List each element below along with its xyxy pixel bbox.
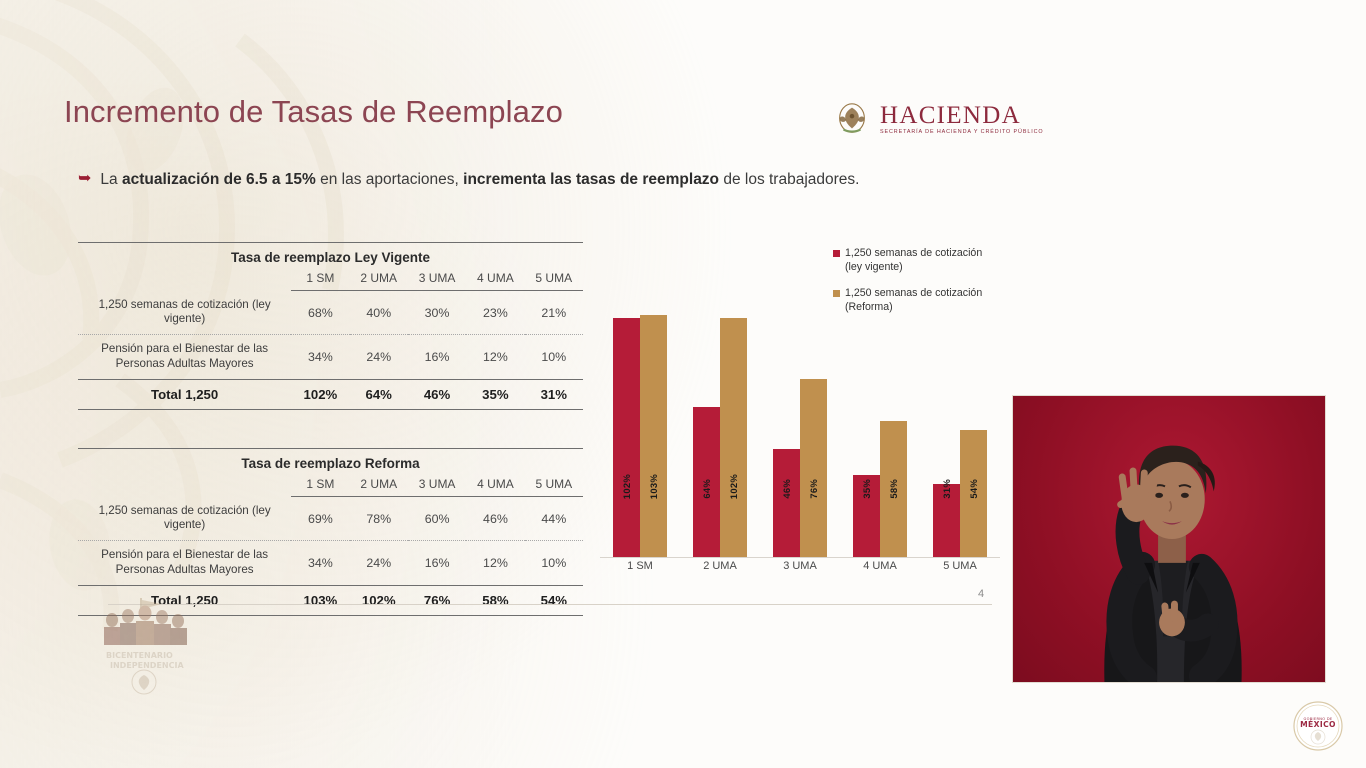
bullet-text-plain: en las aportaciones, xyxy=(316,171,463,188)
x-axis-tick-label: 3 UMA xyxy=(773,560,827,572)
bar-group: 102%103% xyxy=(613,300,667,557)
row-value: 24% xyxy=(350,335,408,380)
hacienda-name: HACIENDA xyxy=(880,103,1044,128)
x-axis-tick-label: 2 UMA xyxy=(693,560,747,572)
row-value: 34% xyxy=(291,541,349,586)
gobierno-de-mexico-badge: GOBIERNO DE MÉXICO xyxy=(1292,700,1344,752)
bar[interactable]: 64% xyxy=(693,407,720,557)
historical-figures-vignette: BICENTENARIO INDEPENDENCIA xyxy=(96,596,192,696)
row-value: 60% xyxy=(408,497,466,541)
column-header: 5 UMA xyxy=(525,477,583,497)
bar[interactable]: 103% xyxy=(640,315,667,557)
row-label: Pensión para el Bienestar de las Persona… xyxy=(78,541,291,586)
bar-value-label: 102% xyxy=(728,474,739,499)
table-corner-cell xyxy=(78,477,291,497)
total-label: Total 1,250 xyxy=(78,379,291,409)
bar-group: 46%76% xyxy=(773,300,827,557)
row-value: 34% xyxy=(291,335,349,380)
mexican-eagle-seal-icon xyxy=(833,100,871,138)
bar[interactable]: 35% xyxy=(853,475,880,557)
row-value: 46% xyxy=(466,497,524,541)
row-value: 69% xyxy=(291,497,349,541)
row-value: 10% xyxy=(525,335,583,380)
row-value: 78% xyxy=(350,497,408,541)
x-axis-tick-label: 1 SM xyxy=(613,560,667,572)
legend-swatch-icon xyxy=(833,290,840,297)
hacienda-logo: HACIENDA SECRETARÍA DE HACIENDA Y CRÉDIT… xyxy=(833,100,1044,138)
total-value: 46% xyxy=(408,379,466,409)
row-value: 30% xyxy=(408,291,466,335)
total-value: 31% xyxy=(525,379,583,409)
row-value: 40% xyxy=(350,291,408,335)
total-value: 64% xyxy=(350,379,408,409)
bar[interactable]: 54% xyxy=(960,430,987,557)
column-header: 1 SM xyxy=(291,477,349,497)
chart-plot-area: 102%103%64%102%46%76%35%58%31%54% xyxy=(600,300,1000,558)
bar[interactable]: 102% xyxy=(720,318,747,557)
table-row: 1,250 semanas de cotización (ley vigente… xyxy=(78,291,583,335)
bar[interactable]: 102% xyxy=(613,318,640,557)
bar-chart: 102%103%64%102%46%76%35%58%31%54% 1 SM2 … xyxy=(600,300,1000,590)
total-value: 76% xyxy=(408,585,466,615)
svg-text:MÉXICO: MÉXICO xyxy=(1300,720,1336,729)
legend-swatch-icon xyxy=(833,250,840,257)
table-title: Tasa de reemplazo Ley Vigente xyxy=(78,243,583,272)
bar-value-label: 58% xyxy=(888,479,899,499)
page-title: Incremento de Tasas de Reemplazo xyxy=(64,94,563,130)
row-value: 16% xyxy=(408,335,466,380)
bullet-text: La actualización de 6.5 a 15% en las apo… xyxy=(100,170,859,190)
hacienda-subtitle: SECRETARÍA DE HACIENDA Y CRÉDITO PÚBLICO xyxy=(880,129,1044,135)
column-header: 4 UMA xyxy=(466,477,524,497)
row-label: 1,250 semanas de cotización (ley vigente… xyxy=(78,497,291,541)
table-total-row: Total 1,250 102% 64% 46% 35% 31% xyxy=(78,379,583,409)
bar-group: 31%54% xyxy=(933,300,987,557)
interpreter-figure xyxy=(1013,396,1325,682)
row-value: 21% xyxy=(525,291,583,335)
svg-text:INDEPENDENCIA: INDEPENDENCIA xyxy=(110,661,184,670)
total-value: 54% xyxy=(525,585,583,615)
legend-label: 1,250 semanas de cotización (ley vigente… xyxy=(845,247,982,274)
presentation-slide: Incremento de Tasas de Reemplazo HACIEND… xyxy=(0,0,1366,768)
column-header: 1 SM xyxy=(291,271,349,291)
total-value: 103% xyxy=(291,585,349,615)
column-header: 4 UMA xyxy=(466,271,524,291)
table-tasa-reemplazo-reforma: Tasa de reemplazo Reforma 1 SM 2 UMA 3 U… xyxy=(78,448,583,616)
column-header: 3 UMA xyxy=(408,271,466,291)
row-value: 10% xyxy=(525,541,583,586)
bar[interactable]: 46% xyxy=(773,449,800,557)
table-row: Pensión para el Bienestar de las Persona… xyxy=(78,335,583,380)
bar-group: 35%58% xyxy=(853,300,907,557)
table-corner-cell xyxy=(78,271,291,291)
page-number: 4 xyxy=(978,588,984,600)
bar-value-label: 46% xyxy=(781,479,792,499)
bar-value-label: 76% xyxy=(808,479,819,499)
bar-value-label: 102% xyxy=(621,474,632,499)
bullet-text-strong: incrementa las tasas de reemplazo xyxy=(463,171,719,188)
table-row: Pensión para el Bienestar de las Persona… xyxy=(78,541,583,586)
row-value: 12% xyxy=(466,335,524,380)
total-value: 102% xyxy=(291,379,349,409)
bar-value-label: 35% xyxy=(861,479,872,499)
table-title: Tasa de reemplazo Reforma xyxy=(78,449,583,478)
bar-value-label: 31% xyxy=(941,479,952,499)
bullet-row: ➥ La actualización de 6.5 a 15% en las a… xyxy=(78,170,1038,190)
bar-value-label: 103% xyxy=(648,474,659,499)
column-header: 2 UMA xyxy=(350,271,408,291)
column-header: 5 UMA xyxy=(525,271,583,291)
footer-divider xyxy=(108,604,992,605)
x-axis-tick-label: 5 UMA xyxy=(933,560,987,572)
row-value: 16% xyxy=(408,541,466,586)
bullet-text-plain: de los trabajadores. xyxy=(719,171,859,188)
bar[interactable]: 31% xyxy=(933,484,960,557)
bar-value-label: 54% xyxy=(968,479,979,499)
row-value: 12% xyxy=(466,541,524,586)
bullet-text-plain: La xyxy=(100,171,122,188)
row-label: 1,250 semanas de cotización (ley vigente… xyxy=(78,291,291,335)
column-header: 3 UMA xyxy=(408,477,466,497)
legend-item[interactable]: 1,250 semanas de cotización (ley vigente… xyxy=(833,247,982,274)
bar[interactable]: 76% xyxy=(800,379,827,557)
table-row: 1,250 semanas de cotización (ley vigente… xyxy=(78,497,583,541)
sign-language-interpreter-video[interactable] xyxy=(1012,395,1326,683)
table-tasa-reemplazo-ley-vigente: Tasa de reemplazo Ley Vigente 1 SM 2 UMA… xyxy=(78,242,583,410)
bullet-text-strong: actualización de 6.5 a 15% xyxy=(122,171,316,188)
total-value: 102% xyxy=(350,585,408,615)
svg-text:BICENTENARIO: BICENTENARIO xyxy=(106,651,173,660)
x-axis-tick-label: 4 UMA xyxy=(853,560,907,572)
row-value: 23% xyxy=(466,291,524,335)
column-header: 2 UMA xyxy=(350,477,408,497)
chart-x-axis: 1 SM2 UMA3 UMA4 UMA5 UMA xyxy=(600,560,1000,572)
row-label: Pensión para el Bienestar de las Persona… xyxy=(78,335,291,380)
bar-value-label: 64% xyxy=(701,479,712,499)
total-value: 58% xyxy=(466,585,524,615)
total-value: 35% xyxy=(466,379,524,409)
row-value: 24% xyxy=(350,541,408,586)
bar-group: 64%102% xyxy=(693,300,747,557)
row-value: 68% xyxy=(291,291,349,335)
row-value: 44% xyxy=(525,497,583,541)
arrow-bullet-icon: ➥ xyxy=(78,171,91,187)
bar[interactable]: 58% xyxy=(880,421,907,557)
